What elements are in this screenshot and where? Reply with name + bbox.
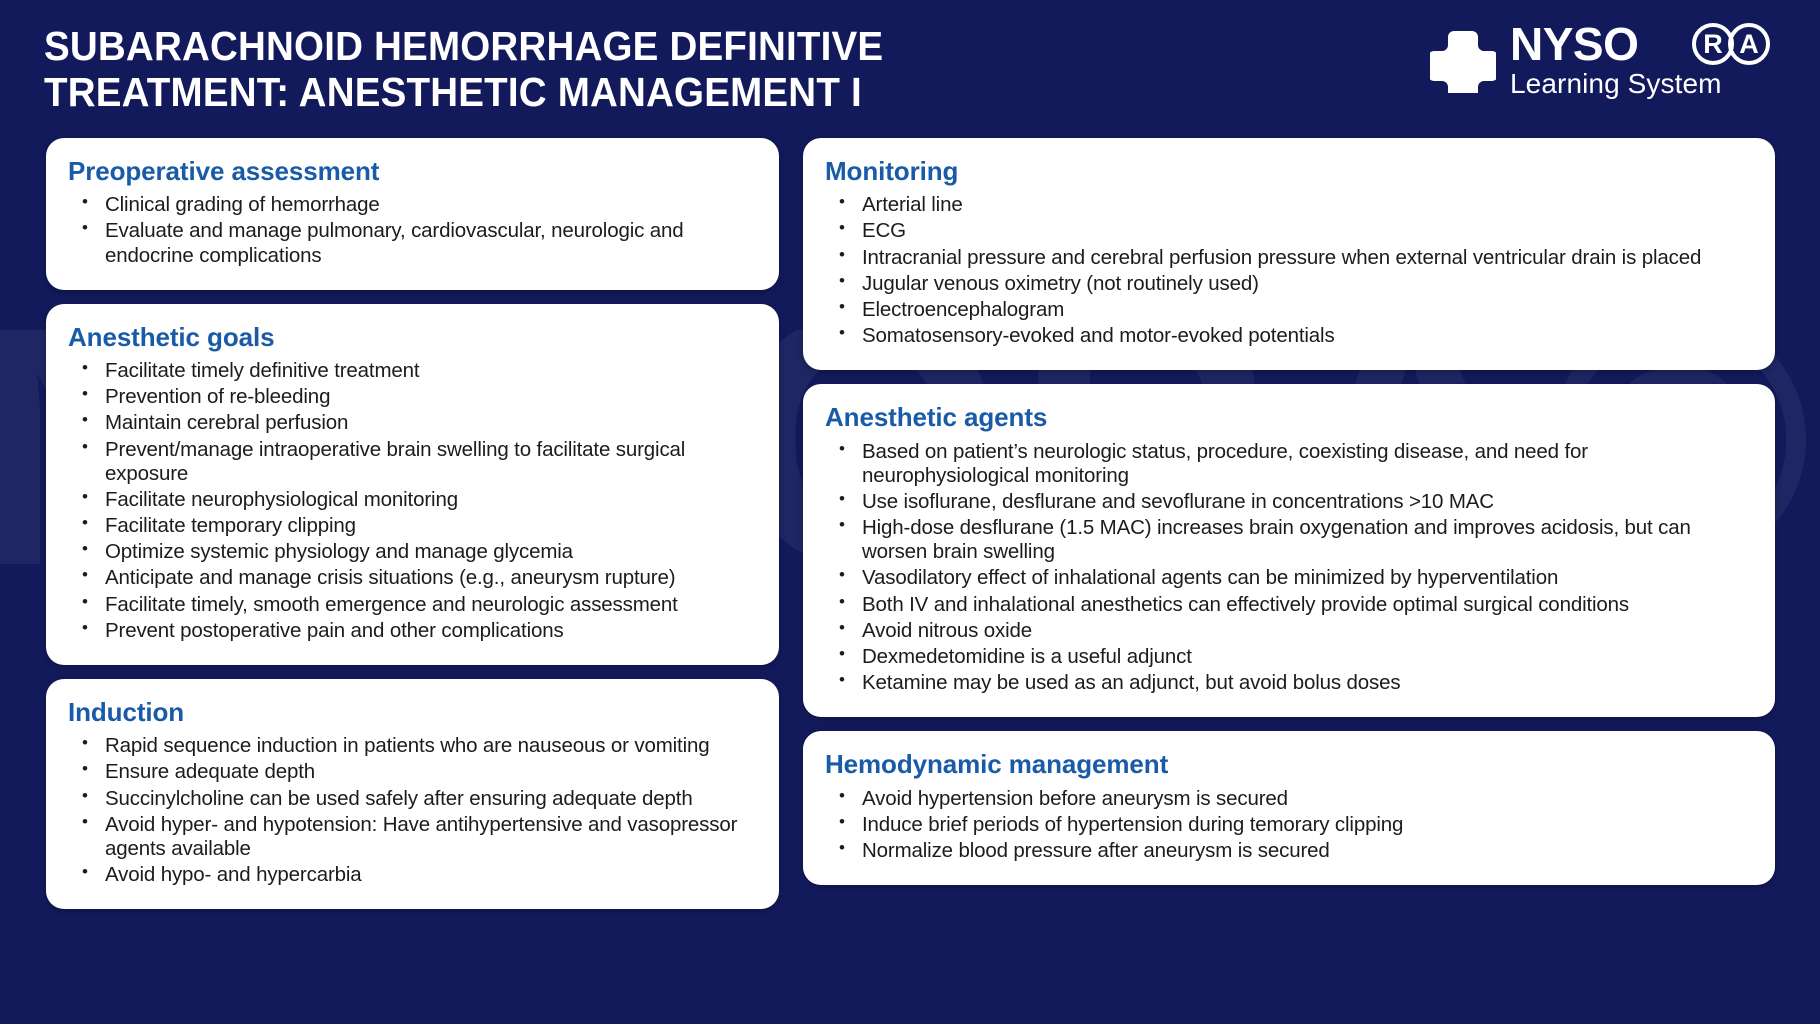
card-preoperative-assessment: Preoperative assessmentClinical grading …: [46, 138, 779, 290]
page-title: SUBARACHNOID HEMORRHAGE DEFINITIVE TREAT…: [44, 24, 1153, 116]
right-column: MonitoringArterial lineECGIntracranial p…: [803, 138, 1775, 899]
logo-brand-row: NYSO R A: [1510, 19, 1780, 69]
card-hemodynamic-management: Hemodynamic managementAvoid hypertension…: [803, 731, 1775, 885]
nysora-logo: NYSO R A Learning System: [1430, 14, 1780, 106]
card-anesthetic-agents: Anesthetic agentsBased on patient’s neur…: [803, 384, 1775, 717]
list-item: Maintain cerebral perfusion: [68, 411, 757, 435]
list-item: Anticipate and manage crisis situations …: [68, 566, 757, 590]
list-item: Use isoflurane, desflurane and sevoflura…: [825, 490, 1753, 514]
list-item: Facilitate temporary clipping: [68, 514, 757, 538]
medical-cross-icon: [1430, 27, 1496, 93]
bullet-list-preoperative-assessment: Clinical grading of hemorrhageEvaluate a…: [68, 193, 757, 268]
card-title-preoperative-assessment: Preoperative assessment: [68, 156, 757, 187]
card-title-anesthetic-goals: Anesthetic goals: [68, 322, 757, 353]
list-item: ECG: [825, 219, 1753, 243]
list-item: Succinylcholine can be used safely after…: [68, 787, 757, 811]
list-item: Avoid hypertension before aneurysm is se…: [825, 787, 1753, 811]
list-item: Arterial line: [825, 193, 1753, 217]
list-item: Optimize systemic physiology and manage …: [68, 540, 757, 564]
list-item: Both IV and inhalational anesthetics can…: [825, 593, 1753, 617]
left-column: Preoperative assessmentClinical grading …: [46, 138, 779, 923]
list-item: Prevent postoperative pain and other com…: [68, 619, 757, 643]
page-title-line-1: SUBARACHNOID HEMORRHAGE DEFINITIVE: [44, 24, 1153, 70]
logo-brand-main: NYSO: [1510, 19, 1638, 69]
list-item: Facilitate timely, smooth emergence and …: [68, 593, 757, 617]
card-monitoring: MonitoringArterial lineECGIntracranial p…: [803, 138, 1775, 370]
bullet-list-monitoring: Arterial lineECGIntracranial pressure an…: [825, 193, 1753, 348]
list-item: Induce brief periods of hypertension dur…: [825, 813, 1753, 837]
list-item: Somatosensory-evoked and motor-evoked po…: [825, 324, 1753, 348]
list-item: Intracranial pressure and cerebral perfu…: [825, 246, 1753, 270]
logo-circle-a: A: [1728, 23, 1770, 65]
list-item: Clinical grading of hemorrhage: [68, 193, 757, 217]
list-item: Avoid hyper- and hypotension: Have antih…: [68, 813, 757, 861]
card-title-anesthetic-agents: Anesthetic agents: [825, 402, 1753, 433]
bullet-list-anesthetic-goals: Facilitate timely definitive treatmentPr…: [68, 359, 757, 643]
list-item: Rapid sequence induction in patients who…: [68, 734, 757, 758]
list-item: Ensure adequate depth: [68, 760, 757, 784]
list-item: Facilitate timely definitive treatment: [68, 359, 757, 383]
page-header: SUBARACHNOID HEMORRHAGE DEFINITIVE TREAT…: [0, 0, 1820, 130]
card-title-hemodynamic-management: Hemodynamic management: [825, 749, 1753, 780]
card-title-induction: Induction: [68, 697, 757, 728]
list-item: Jugular venous oximetry (not routinely u…: [825, 272, 1753, 296]
bullet-list-induction: Rapid sequence induction in patients who…: [68, 734, 757, 887]
list-item: High-dose desflurane (1.5 MAC) increases…: [825, 516, 1753, 564]
list-item: Vasodilatory effect of inhalational agen…: [825, 566, 1753, 590]
list-item: Normalize blood pressure after aneurysm …: [825, 839, 1753, 863]
logo-subtitle: Learning System: [1510, 67, 1780, 101]
card-title-monitoring: Monitoring: [825, 156, 1753, 187]
bullet-list-anesthetic-agents: Based on patient’s neurologic status, pr…: [825, 440, 1753, 696]
list-item: Avoid nitrous oxide: [825, 619, 1753, 643]
list-item: Avoid hypo- and hypercarbia: [68, 863, 757, 887]
card-anesthetic-goals: Anesthetic goalsFacilitate timely defini…: [46, 304, 779, 665]
logo-wordmark: NYSO R A Learning System: [1510, 19, 1780, 101]
list-item: Facilitate neurophysiological monitoring: [68, 488, 757, 512]
card-induction: InductionRapid sequence induction in pat…: [46, 679, 779, 909]
page-title-line-2: TREATMENT: ANESTHETIC MANAGEMENT I: [44, 70, 1153, 116]
list-item: Prevent/manage intraoperative brain swel…: [68, 438, 757, 486]
list-item: Evaluate and manage pulmonary, cardiovas…: [68, 219, 757, 267]
list-item: Based on patient’s neurologic status, pr…: [825, 440, 1753, 488]
list-item: Prevention of re-bleeding: [68, 385, 757, 409]
list-item: Ketamine may be used as an adjunct, but …: [825, 671, 1753, 695]
list-item: Electroencephalogram: [825, 298, 1753, 322]
list-item: Dexmedetomidine is a useful adjunct: [825, 645, 1753, 669]
bullet-list-hemodynamic-management: Avoid hypertension before aneurysm is se…: [825, 787, 1753, 864]
